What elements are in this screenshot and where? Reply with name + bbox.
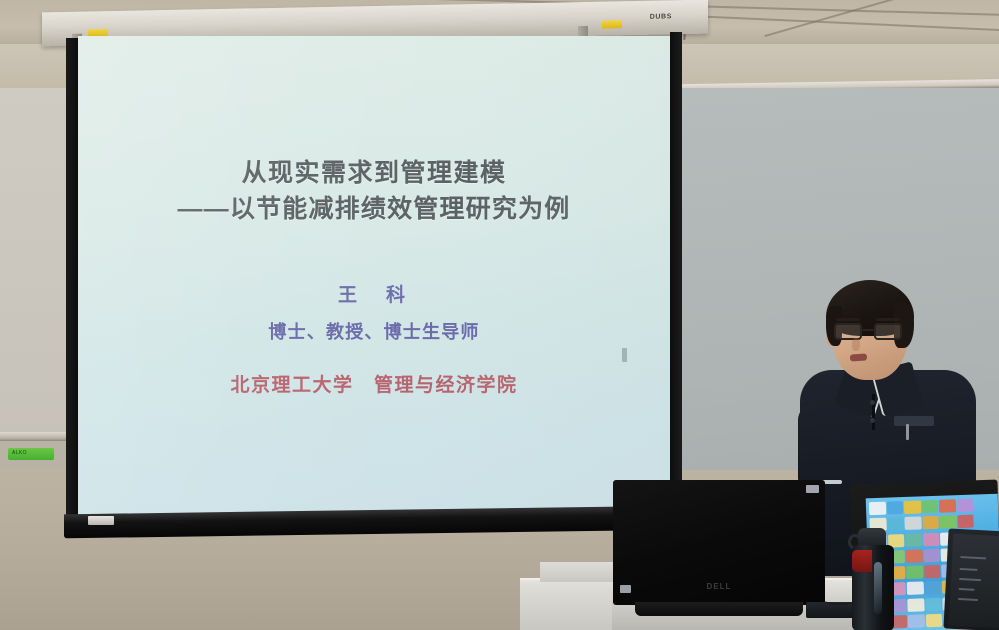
slide-title-line2: ——以节能减排绩效管理研究为例 [78,192,670,228]
glasses-lens-right [874,323,902,340]
projection-screen: 从现实需求到管理建模 ——以节能减排绩效管理研究为例 王 科 博士、教授、博士生… [66,30,682,530]
desktop-icon[interactable] [905,533,922,547]
presenter-mouth [850,353,867,361]
desktop-icon[interactable] [907,582,924,596]
desktop-icon[interactable] [925,614,942,628]
slide-title-line1: 从现实需求到管理建模 [241,159,506,187]
desktop-icon[interactable] [924,581,941,595]
desktop-icon[interactable] [921,500,938,514]
laptop-text-line [959,578,981,581]
desktop-icon[interactable] [923,549,940,563]
dell-monitor-stand [635,602,803,616]
presenter-eyebrow-left [836,318,860,321]
desktop-icon[interactable] [904,500,921,514]
warning-sticker-icon [602,20,622,28]
presenter-shirt-button [870,418,875,423]
desktop-icon[interactable] [907,598,924,612]
laptop-text-line [959,588,975,591]
laptop-text-line [960,568,978,571]
presenter-pocket-pen [906,424,909,440]
presentation-slide: 从现实需求到管理建模 ——以节能减排绩效管理研究为例 王 科 博士、教授、博士生… [78,36,670,514]
desktop-icon[interactable] [922,532,939,546]
desktop-icon[interactable] [922,516,939,530]
dell-monitor-screen[interactable]: DELL [613,480,825,605]
presenter-shirt-pocket [894,416,934,426]
desktop-icon[interactable] [904,517,921,531]
desktop-icon[interactable] [908,614,925,628]
presenter-shirt-button [870,400,875,405]
presenter-eyebrow-right [876,318,900,321]
water-bottle[interactable] [848,528,896,630]
monitor-sticker [806,485,819,493]
screen-side-tab [622,348,627,362]
eraser-label: ALKO [12,450,50,456]
desktop-icon[interactable] [869,502,886,516]
presenter-nose [852,338,860,351]
bottle-highlight [874,562,882,614]
slide-title: 从现实需求到管理建模 ——以节能减排绩效管理研究为例 [78,156,670,227]
desktop-icon[interactable] [939,515,956,529]
desktop-icon[interactable] [924,565,941,579]
slide-affiliation-text: 北京理工大学 管理与经济学院 [78,370,670,397]
lecture-room-photo: ALKO DUBS 从现实需求到管理建模 ——以节能减排绩效管理研究为例 王 科… [0,0,999,630]
desktop-icon[interactable] [956,499,973,513]
desktop-icon[interactable] [939,499,956,513]
glasses-icon [834,323,906,340]
side-table [520,588,612,630]
laptop-text-line [960,556,986,559]
laptop-text-line [958,598,978,601]
dell-logo: DELL [613,582,825,591]
screen-border-left [66,38,78,530]
slide-author: 王 科 [78,280,670,307]
screen-bar-label [88,516,114,525]
screen-brand-label: DUBS [650,13,672,20]
desktop-icon[interactable] [957,515,974,529]
desktop-icon[interactable] [906,565,923,579]
glasses-bridge [862,329,874,331]
desktop-icon[interactable] [886,501,903,515]
bottle-accent-stripe [852,550,872,572]
laptop-screen[interactable] [949,534,999,629]
slide-credentials: 博士、教授、博士生导师 [78,318,670,344]
slide-surface: 从现实需求到管理建模 ——以节能减排绩效管理研究为例 王 科 博士、教授、博士生… [78,36,670,514]
screen-border-right [670,32,682,524]
desktop-icon[interactable] [925,597,942,611]
desktop-icon[interactable] [906,549,923,563]
dell-monitor[interactable]: DELL [613,480,825,622]
laptop[interactable] [946,530,999,630]
